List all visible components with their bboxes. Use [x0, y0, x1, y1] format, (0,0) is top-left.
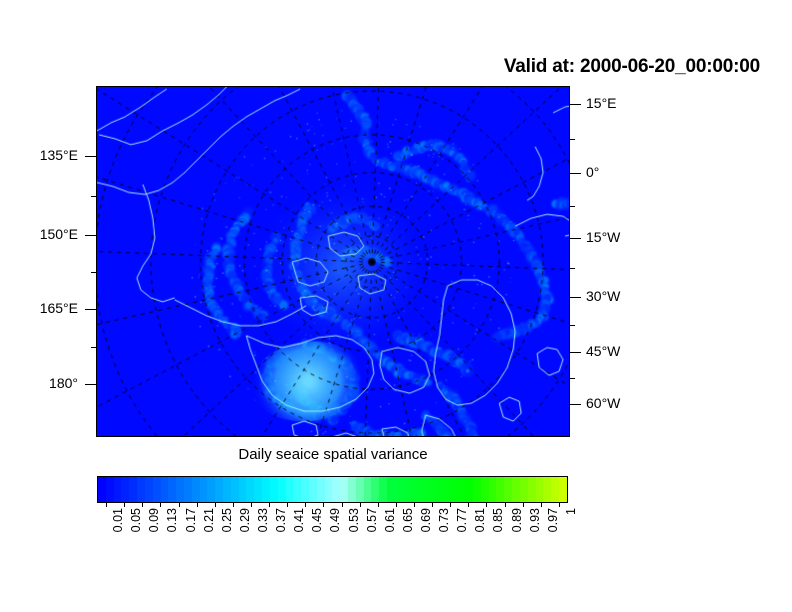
colorbar-tick-label: 0.25 [220, 508, 234, 532]
colorbar-segment [426, 477, 434, 502]
colorbar-tick-label: 0.61 [383, 508, 397, 532]
colorbar-segment [332, 477, 340, 502]
colorbar-tick-label: 0.05 [129, 508, 143, 532]
colorbar-tick [197, 503, 198, 507]
colorbar-segment [254, 477, 262, 502]
right-axis-label: 15°W [586, 229, 620, 245]
colorbar-tick-label: 0.85 [491, 508, 505, 532]
colorbar-segment [153, 477, 161, 502]
colorbar-segment [418, 477, 426, 502]
colorbar-tick [233, 503, 234, 507]
colorbar-tick [360, 503, 361, 507]
colorbar-segment [184, 477, 192, 502]
colorbar-segment [121, 477, 129, 502]
colorbar-segment [317, 477, 325, 502]
colorbar-segment [340, 477, 348, 502]
colorbar-tick-label: 0.97 [546, 508, 560, 532]
colorbar-tick-label: 0.57 [365, 508, 379, 532]
colorbar-segment [489, 477, 497, 502]
left-axis-tick [85, 235, 96, 236]
colorbar-tick [378, 503, 379, 507]
colorbar-segment [246, 477, 254, 502]
colorbar-segment [231, 477, 239, 502]
colorbar-segment [325, 477, 333, 502]
colorbar-segment [496, 477, 504, 502]
colorbar-tick [179, 503, 180, 507]
colorbar-tick-label: 0.45 [310, 508, 324, 532]
colorbar-segment [551, 477, 559, 502]
right-axis-label: 0° [586, 164, 599, 180]
colorbar: 0.010.050.090.130.170.210.250.290.330.37… [97, 476, 568, 503]
colorbar-segment [457, 477, 465, 502]
colorbar-segment [371, 477, 379, 502]
right-axis-minor-tick [570, 206, 575, 207]
colorbar-tick [142, 503, 143, 507]
left-axis-minor-tick [91, 272, 96, 273]
left-axis-tick [85, 156, 96, 157]
colorbar-gradient [97, 476, 568, 503]
colorbar-segment [176, 477, 184, 502]
colorbar-segment [450, 477, 458, 502]
colorbar-segment [207, 477, 215, 502]
right-axis-tick [570, 173, 581, 174]
colorbar-tick [323, 503, 324, 507]
colorbar-tick-labels: 0.010.050.090.130.170.210.250.290.330.37… [97, 508, 568, 568]
colorbar-segment [434, 477, 442, 502]
colorbar-segment [543, 477, 551, 502]
colorbar-segment [129, 477, 137, 502]
colorbar-segment [293, 477, 301, 502]
colorbar-segment [262, 477, 270, 502]
right-axis-label: 30°W [586, 288, 620, 304]
colorbar-tick-label: 0.37 [274, 508, 288, 532]
colorbar-tick-label: 0.13 [165, 508, 179, 532]
right-axis-tick [570, 297, 581, 298]
colorbar-segment [270, 477, 278, 502]
right-axis-minor-tick [570, 139, 575, 140]
right-axis-minor-tick [570, 325, 575, 326]
colorbar-tick [468, 503, 469, 507]
colorbar-segment [528, 477, 536, 502]
colorbar-segment [161, 477, 169, 502]
colorbar-segment [168, 477, 176, 502]
right-axis-tick [570, 238, 581, 239]
left-axis-label: 180° [6, 375, 78, 391]
colorbar-tick [342, 503, 343, 507]
colorbar-tick-label: 0.65 [401, 508, 415, 532]
colorbar-tick [287, 503, 288, 507]
map-plot-area [96, 86, 570, 437]
colorbar-tick-label: 0.17 [184, 508, 198, 532]
colorbar-segment [215, 477, 223, 502]
left-axis-minor-tick [91, 196, 96, 197]
left-axis-tick [85, 309, 96, 310]
colorbar-tick [396, 503, 397, 507]
colorbar-tick-label: 0.81 [473, 508, 487, 532]
colorbar-tick [160, 503, 161, 507]
colorbar-segment [200, 477, 208, 502]
colorbar-segment [114, 477, 122, 502]
colorbar-tick-label: 1 [564, 508, 578, 515]
right-axis-minor-tick [570, 378, 575, 379]
right-axis-tick [570, 404, 581, 405]
colorbar-tick-label: 0.73 [437, 508, 451, 532]
figure-canvas: Valid at: 2000-06-20_00:00:00 135°E150°E… [0, 0, 792, 612]
colorbar-tick-label: 0.41 [292, 508, 306, 532]
left-axis-tick [85, 384, 96, 385]
colorbar-segment [442, 477, 450, 502]
colorbar-tick-label: 0.33 [256, 508, 270, 532]
colorbar-segment [559, 477, 567, 502]
colorbar-tick-label: 0.93 [528, 508, 542, 532]
colorbar-tick [305, 503, 306, 507]
colorbar-segment [536, 477, 544, 502]
colorbar-tick [486, 503, 487, 507]
colorbar-tick [414, 503, 415, 507]
colorbar-tick-label: 0.01 [111, 508, 125, 532]
colorbar-tick [432, 503, 433, 507]
colorbar-tick [124, 503, 125, 507]
seaice-variance-map [97, 87, 569, 436]
left-axis-label: 135°E [6, 147, 78, 163]
left-axis-label: 150°E [6, 226, 78, 242]
colorbar-segment [403, 477, 411, 502]
colorbar-segment [348, 477, 356, 502]
colorbar-segment [364, 477, 372, 502]
left-axis-minor-tick [91, 347, 96, 348]
right-axis-tick [570, 352, 581, 353]
colorbar-tick-label: 0.29 [238, 508, 252, 532]
colorbar-segment [395, 477, 403, 502]
colorbar-segment [223, 477, 231, 502]
colorbar-segment [137, 477, 145, 502]
colorbar-tick [523, 503, 524, 507]
colorbar-tick-label: 0.69 [419, 508, 433, 532]
colorbar-tick [215, 503, 216, 507]
colorbar-tick [106, 503, 107, 507]
colorbar-segment [520, 477, 528, 502]
colorbar-tick-label: 0.21 [202, 508, 216, 532]
right-axis-label: 60°W [586, 395, 620, 411]
colorbar-segment [145, 477, 153, 502]
colorbar-segment [239, 477, 247, 502]
colorbar-tick [450, 503, 451, 507]
colorbar-tick-label: 0.09 [147, 508, 161, 532]
colorbar-segment [512, 477, 520, 502]
right-axis-label: 45°W [586, 343, 620, 359]
colorbar-tick [251, 503, 252, 507]
colorbar-segment [379, 477, 387, 502]
colorbar-segment [411, 477, 419, 502]
colorbar-segment [504, 477, 512, 502]
colorbar-segment [301, 477, 309, 502]
colorbar-segment [106, 477, 114, 502]
colorbar-segment [278, 477, 286, 502]
colorbar-segment [387, 477, 395, 502]
right-axis-tick [570, 104, 581, 105]
map-caption: Daily seaice spatial variance [96, 446, 570, 463]
colorbar-segment [98, 477, 106, 502]
colorbar-segment [356, 477, 364, 502]
right-axis-label: 15°E [586, 95, 617, 111]
colorbar-segment [286, 477, 294, 502]
colorbar-segment [465, 477, 473, 502]
colorbar-tick [541, 503, 542, 507]
colorbar-tick [269, 503, 270, 507]
colorbar-tick-label: 0.53 [347, 508, 361, 532]
colorbar-tick-label: 0.49 [328, 508, 342, 532]
colorbar-tick-label: 0.89 [510, 508, 524, 532]
colorbar-segment [481, 477, 489, 502]
colorbar-tick [559, 503, 560, 507]
left-axis-label: 165°E [6, 300, 78, 316]
right-axis-minor-tick [570, 268, 575, 269]
colorbar-segment [192, 477, 200, 502]
colorbar-segment [309, 477, 317, 502]
colorbar-segment [473, 477, 481, 502]
colorbar-tick [505, 503, 506, 507]
figure-title: Valid at: 2000-06-20_00:00:00 [504, 56, 760, 78]
colorbar-tick-label: 0.77 [455, 508, 469, 532]
